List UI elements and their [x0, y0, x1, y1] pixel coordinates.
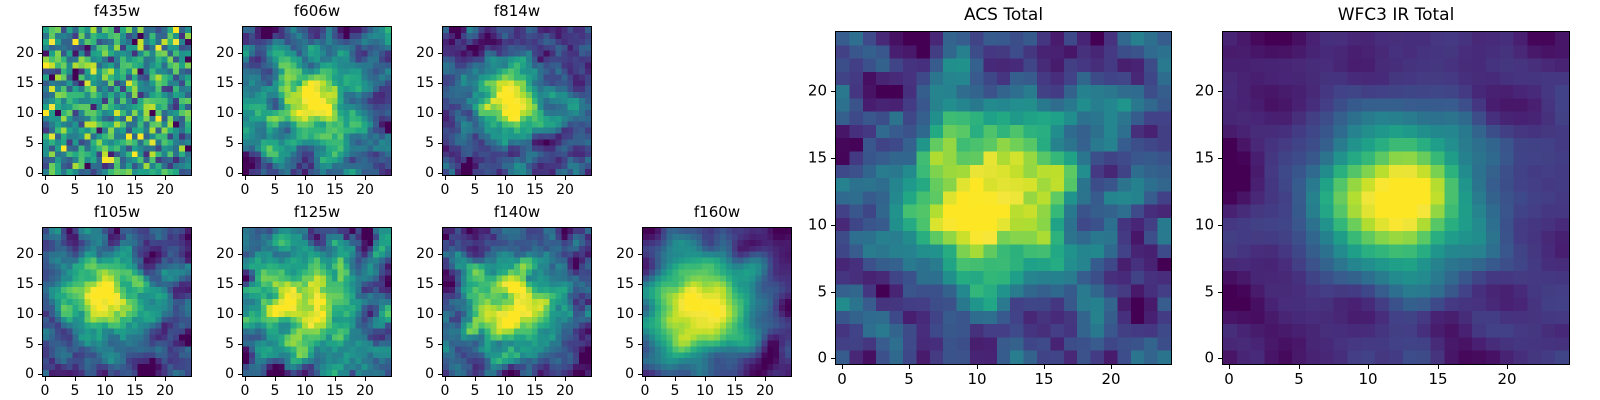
xtick-f125w-2 — [305, 377, 306, 381]
xtick-f435w-1 — [75, 176, 76, 180]
ytick-wfc3_ir_total-3 — [1218, 158, 1222, 159]
xticklabel-f435w-1: 5 — [71, 183, 80, 197]
xtick-acs_total-1 — [909, 365, 910, 369]
xtick-f814w-2 — [505, 176, 506, 180]
xtick-f435w-0 — [45, 176, 46, 180]
ytick-f160w-4 — [638, 254, 642, 255]
yticklabel-f105w-3: 15 — [0, 277, 34, 291]
ytick-f140w-0 — [438, 374, 442, 375]
xticklabel-f435w-0: 0 — [41, 183, 50, 197]
ytick-f814w-3 — [438, 83, 442, 84]
heatmap-f125w — [242, 227, 392, 377]
xtick-acs_total-0 — [842, 365, 843, 369]
xticklabel-f160w-0: 0 — [641, 384, 650, 398]
xticklabel-f140w-4: 20 — [556, 384, 574, 398]
xtick-acs_total-3 — [1044, 365, 1045, 369]
ytick-f814w-4 — [438, 53, 442, 54]
panel-title-acs_total: ACS Total — [835, 7, 1172, 24]
yticklabel-f105w-0: 0 — [0, 367, 34, 381]
yticklabel-wfc3_ir_total-2: 10 — [1156, 218, 1214, 233]
xticklabel-f125w-2: 10 — [296, 384, 314, 398]
panel-title-f140w: f140w — [442, 205, 592, 220]
ytick-f435w-4 — [38, 53, 42, 54]
xticklabel-f140w-3: 15 — [526, 384, 544, 398]
xtick-f435w-4 — [165, 176, 166, 180]
xticklabel-f160w-1: 5 — [671, 384, 680, 398]
xticklabel-f125w-4: 20 — [356, 384, 374, 398]
xticklabel-f105w-3: 15 — [126, 384, 144, 398]
yticklabel-f160w-4: 20 — [576, 247, 634, 261]
xtick-f606w-0 — [245, 176, 246, 180]
yticklabel-f606w-2: 10 — [176, 106, 234, 120]
xticklabel-f606w-2: 10 — [296, 183, 314, 197]
xticklabel-f105w-0: 0 — [41, 384, 50, 398]
ytick-f125w-1 — [238, 344, 242, 345]
ytick-acs_total-3 — [831, 158, 835, 159]
xtick-f105w-3 — [135, 377, 136, 381]
ytick-f435w-2 — [38, 113, 42, 114]
xtick-f140w-4 — [565, 377, 566, 381]
xticklabel-f435w-4: 20 — [156, 183, 174, 197]
xtick-wfc3_ir_total-2 — [1368, 365, 1369, 369]
ytick-f125w-0 — [238, 374, 242, 375]
yticklabel-acs_total-1: 5 — [769, 285, 827, 300]
ytick-wfc3_ir_total-1 — [1218, 292, 1222, 293]
yticklabel-f435w-0: 0 — [0, 166, 34, 180]
ytick-f140w-2 — [438, 314, 442, 315]
yticklabel-f160w-1: 5 — [576, 337, 634, 351]
yticklabel-f606w-4: 20 — [176, 46, 234, 60]
xticklabel-f140w-1: 5 — [471, 384, 480, 398]
ytick-f160w-2 — [638, 314, 642, 315]
yticklabel-acs_total-2: 10 — [769, 218, 827, 233]
xtick-f606w-4 — [365, 176, 366, 180]
ytick-f105w-2 — [38, 314, 42, 315]
xtick-f814w-3 — [535, 176, 536, 180]
xticklabel-f105w-4: 20 — [156, 384, 174, 398]
ytick-f105w-0 — [38, 374, 42, 375]
xticklabel-f606w-3: 15 — [326, 183, 344, 197]
yticklabel-f105w-1: 5 — [0, 337, 34, 351]
panel-title-f814w: f814w — [442, 4, 592, 19]
heatmap-image-f435w — [43, 27, 191, 175]
ytick-f105w-3 — [38, 284, 42, 285]
ytick-f435w-3 — [38, 83, 42, 84]
ytick-f606w-1 — [238, 143, 242, 144]
xticklabel-f606w-0: 0 — [241, 183, 250, 197]
xticklabel-wfc3_ir_total-2: 10 — [1358, 372, 1377, 387]
yticklabel-f606w-0: 0 — [176, 166, 234, 180]
xtick-f160w-2 — [705, 377, 706, 381]
yticklabel-wfc3_ir_total-4: 20 — [1156, 84, 1214, 99]
xticklabel-f125w-0: 0 — [241, 384, 250, 398]
ytick-f160w-3 — [638, 284, 642, 285]
xtick-acs_total-4 — [1111, 365, 1112, 369]
yticklabel-f435w-1: 5 — [0, 136, 34, 150]
xticklabel-f125w-1: 5 — [271, 384, 280, 398]
ytick-wfc3_ir_total-0 — [1218, 358, 1222, 359]
ytick-f814w-0 — [438, 173, 442, 174]
xticklabel-acs_total-0: 0 — [837, 372, 847, 387]
ytick-acs_total-2 — [831, 225, 835, 226]
heatmap-image-f606w — [243, 27, 391, 175]
ytick-f606w-3 — [238, 83, 242, 84]
ytick-f435w-1 — [38, 143, 42, 144]
yticklabel-f606w-1: 5 — [176, 136, 234, 150]
xticklabel-wfc3_ir_total-4: 20 — [1497, 372, 1516, 387]
ytick-f160w-0 — [638, 374, 642, 375]
ytick-f435w-0 — [38, 173, 42, 174]
yticklabel-f125w-2: 10 — [176, 307, 234, 321]
heatmap-image-f140w — [443, 228, 591, 376]
xticklabel-f105w-1: 5 — [71, 384, 80, 398]
xtick-f140w-1 — [475, 377, 476, 381]
xtick-f160w-3 — [735, 377, 736, 381]
xtick-f125w-1 — [275, 377, 276, 381]
ytick-f125w-4 — [238, 254, 242, 255]
panel-title-f435w: f435w — [42, 4, 192, 19]
xtick-f105w-0 — [45, 377, 46, 381]
xtick-f160w-4 — [765, 377, 766, 381]
yticklabel-acs_total-0: 0 — [769, 351, 827, 366]
heatmap-image-wfc3_ir_total — [1223, 32, 1569, 364]
xticklabel-f814w-3: 15 — [526, 183, 544, 197]
heatmap-f435w — [42, 26, 192, 176]
xtick-f606w-2 — [305, 176, 306, 180]
xtick-f125w-3 — [335, 377, 336, 381]
xticklabel-f814w-4: 20 — [556, 183, 574, 197]
ytick-f814w-1 — [438, 143, 442, 144]
yticklabel-f140w-4: 20 — [376, 247, 434, 261]
ytick-f606w-0 — [238, 173, 242, 174]
yticklabel-f160w-2: 10 — [576, 307, 634, 321]
yticklabel-f125w-0: 0 — [176, 367, 234, 381]
xticklabel-f435w-2: 10 — [96, 183, 114, 197]
heatmap-f140w — [442, 227, 592, 377]
xtick-wfc3_ir_total-3 — [1438, 365, 1439, 369]
xticklabel-wfc3_ir_total-1: 5 — [1294, 372, 1304, 387]
xtick-f125w-0 — [245, 377, 246, 381]
xticklabel-f160w-4: 20 — [756, 384, 774, 398]
xticklabel-wfc3_ir_total-3: 15 — [1428, 372, 1447, 387]
yticklabel-f140w-3: 15 — [376, 277, 434, 291]
xtick-f105w-2 — [105, 377, 106, 381]
xticklabel-f140w-0: 0 — [441, 384, 450, 398]
heatmap-wfc3_ir_total — [1222, 31, 1570, 365]
xticklabel-acs_total-1: 5 — [904, 372, 914, 387]
yticklabel-acs_total-3: 15 — [769, 151, 827, 166]
ytick-f125w-2 — [238, 314, 242, 315]
xtick-wfc3_ir_total-0 — [1229, 365, 1230, 369]
panel-title-f606w: f606w — [242, 4, 392, 19]
ytick-f105w-1 — [38, 344, 42, 345]
xticklabel-f435w-3: 15 — [126, 183, 144, 197]
yticklabel-f105w-4: 20 — [0, 247, 34, 261]
yticklabel-f814w-3: 15 — [376, 76, 434, 90]
heatmap-image-f814w — [443, 27, 591, 175]
ytick-f606w-4 — [238, 53, 242, 54]
yticklabel-f435w-3: 15 — [0, 76, 34, 90]
xticklabel-f814w-2: 10 — [496, 183, 514, 197]
yticklabel-f435w-2: 10 — [0, 106, 34, 120]
xticklabel-f814w-1: 5 — [471, 183, 480, 197]
yticklabel-f125w-4: 20 — [176, 247, 234, 261]
ytick-acs_total-1 — [831, 292, 835, 293]
xtick-acs_total-2 — [977, 365, 978, 369]
xticklabel-acs_total-3: 15 — [1034, 372, 1053, 387]
heatmap-image-f105w — [43, 228, 191, 376]
panel-title-f125w: f125w — [242, 205, 392, 220]
xtick-f125w-4 — [365, 377, 366, 381]
yticklabel-f160w-3: 15 — [576, 277, 634, 291]
yticklabel-acs_total-4: 20 — [769, 84, 827, 99]
ytick-wfc3_ir_total-2 — [1218, 225, 1222, 226]
ytick-acs_total-0 — [831, 358, 835, 359]
xticklabel-acs_total-2: 10 — [967, 372, 986, 387]
xtick-f140w-2 — [505, 377, 506, 381]
xtick-f105w-4 — [165, 377, 166, 381]
heatmap-f105w — [42, 227, 192, 377]
heatmap-image-acs_total — [836, 32, 1171, 364]
ytick-f140w-3 — [438, 284, 442, 285]
xticklabel-f125w-3: 15 — [326, 384, 344, 398]
yticklabel-f160w-0: 0 — [576, 367, 634, 381]
yticklabel-f105w-2: 10 — [0, 307, 34, 321]
xtick-f814w-0 — [445, 176, 446, 180]
xtick-f140w-0 — [445, 377, 446, 381]
yticklabel-f814w-4: 20 — [376, 46, 434, 60]
yticklabel-f814w-0: 0 — [376, 166, 434, 180]
yticklabel-f140w-2: 10 — [376, 307, 434, 321]
xtick-f105w-1 — [75, 377, 76, 381]
xticklabel-f606w-4: 20 — [356, 183, 374, 197]
xtick-wfc3_ir_total-1 — [1299, 365, 1300, 369]
xticklabel-f140w-2: 10 — [496, 384, 514, 398]
ytick-f125w-3 — [238, 284, 242, 285]
xtick-f814w-4 — [565, 176, 566, 180]
ytick-f105w-4 — [38, 254, 42, 255]
xticklabel-f160w-3: 15 — [726, 384, 744, 398]
xtick-f435w-3 — [135, 176, 136, 180]
xticklabel-f606w-1: 5 — [271, 183, 280, 197]
ytick-f140w-4 — [438, 254, 442, 255]
ytick-f140w-1 — [438, 344, 442, 345]
heatmap-f814w — [442, 26, 592, 176]
xticklabel-f160w-2: 10 — [696, 384, 714, 398]
xticklabel-f814w-0: 0 — [441, 183, 450, 197]
panel-title-wfc3_ir_total: WFC3 IR Total — [1222, 7, 1570, 24]
heatmap-acs_total — [835, 31, 1172, 365]
yticklabel-f435w-4: 20 — [0, 46, 34, 60]
ytick-f606w-2 — [238, 113, 242, 114]
xticklabel-wfc3_ir_total-0: 0 — [1224, 372, 1234, 387]
yticklabel-f140w-1: 5 — [376, 337, 434, 351]
yticklabel-wfc3_ir_total-1: 5 — [1156, 285, 1214, 300]
figure-canvas: f435w0510152005101520f606w05101520051015… — [0, 0, 1600, 400]
xticklabel-acs_total-4: 20 — [1101, 372, 1120, 387]
ytick-f814w-2 — [438, 113, 442, 114]
yticklabel-f140w-0: 0 — [376, 367, 434, 381]
yticklabel-wfc3_ir_total-3: 15 — [1156, 151, 1214, 166]
xtick-wfc3_ir_total-4 — [1507, 365, 1508, 369]
yticklabel-f125w-3: 15 — [176, 277, 234, 291]
ytick-wfc3_ir_total-4 — [1218, 91, 1222, 92]
heatmap-f606w — [242, 26, 392, 176]
ytick-f160w-1 — [638, 344, 642, 345]
xtick-f435w-2 — [105, 176, 106, 180]
xtick-f606w-3 — [335, 176, 336, 180]
yticklabel-f606w-3: 15 — [176, 76, 234, 90]
ytick-acs_total-4 — [831, 91, 835, 92]
xtick-f160w-0 — [645, 377, 646, 381]
yticklabel-f814w-1: 5 — [376, 136, 434, 150]
yticklabel-f814w-2: 10 — [376, 106, 434, 120]
yticklabel-f125w-1: 5 — [176, 337, 234, 351]
xtick-f160w-1 — [675, 377, 676, 381]
panel-title-f105w: f105w — [42, 205, 192, 220]
xtick-f606w-1 — [275, 176, 276, 180]
xticklabel-f105w-2: 10 — [96, 384, 114, 398]
xtick-f140w-3 — [535, 377, 536, 381]
yticklabel-wfc3_ir_total-0: 0 — [1156, 351, 1214, 366]
xtick-f814w-1 — [475, 176, 476, 180]
heatmap-image-f125w — [243, 228, 391, 376]
